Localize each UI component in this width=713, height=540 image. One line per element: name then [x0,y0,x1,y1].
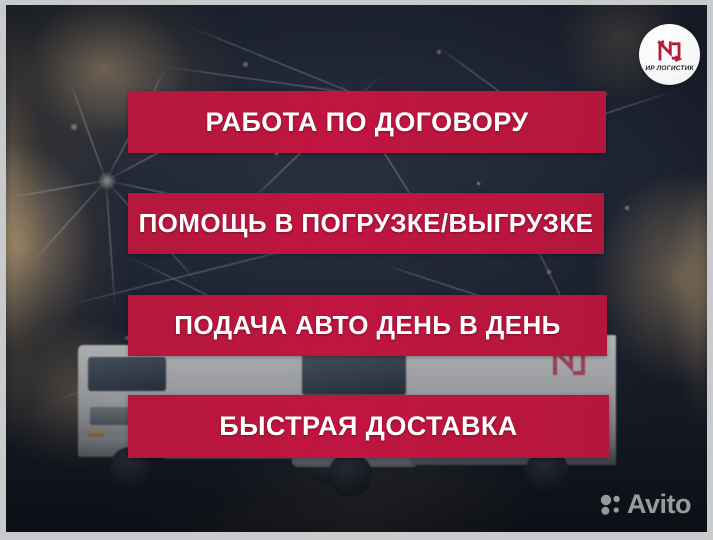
stylized-n-monogram-icon [656,39,683,63]
feature-banner-3: ПОДАЧА АВТО ДЕНЬ В ДЕНЬ [128,295,607,356]
feature-banner-4-label: БЫСТРАЯ ДОСТАВКА [219,411,517,442]
company-logo-text: ИР ЛОГИСТИК [645,65,693,72]
ad-photo: РАБОТА ПО ДОГОВОРУ ПОМОЩЬ В ПОГРУЗКЕ/ВЫГ… [6,5,707,532]
avito-dots-icon [600,494,622,516]
feature-banner-4: БЫСТРАЯ ДОСТАВКА [128,395,609,458]
feature-banner-1-label: РАБОТА ПО ДОГОВОРУ [206,107,529,138]
ad-image: РАБОТА ПО ДОГОВОРУ ПОМОЩЬ В ПОГРУЗКЕ/ВЫГ… [0,0,713,540]
feature-banner-2-label: ПОМОЩЬ В ПОГРУЗКЕ/ВЫГРУЗКЕ [139,208,594,239]
avito-watermark: Avito [600,491,691,518]
feature-banner-2: ПОМОЩЬ В ПОГРУЗКЕ/ВЫГРУЗКЕ [128,193,604,254]
feature-banner-3-label: ПОДАЧА АВТО ДЕНЬ В ДЕНЬ [174,310,560,341]
avito-wordmark: Avito [627,491,691,518]
company-logo-badge: ИР ЛОГИСТИК [639,24,700,85]
feature-banner-1: РАБОТА ПО ДОГОВОРУ [128,91,606,153]
